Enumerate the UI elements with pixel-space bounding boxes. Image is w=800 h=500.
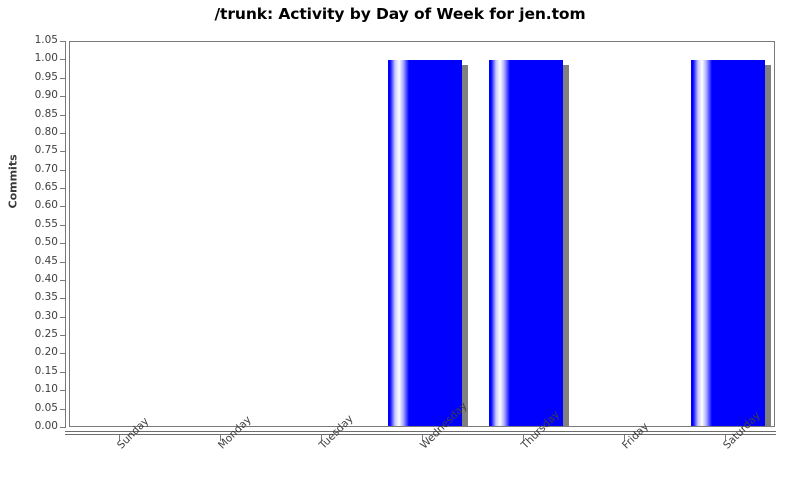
y-tick-label: 0.70 bbox=[0, 163, 58, 175]
bar-saturday[interactable] bbox=[691, 60, 765, 427]
y-tick-mark bbox=[60, 390, 65, 391]
y-tick-label: 0.20 bbox=[0, 346, 58, 358]
y-tick-mark bbox=[60, 133, 65, 134]
y-tick-mark bbox=[60, 243, 65, 244]
y-tick-mark bbox=[60, 409, 65, 410]
y-tick-mark bbox=[60, 280, 65, 281]
y-tick-label: 0.80 bbox=[0, 126, 58, 138]
y-tick-mark bbox=[60, 262, 65, 263]
bar-wednesday[interactable] bbox=[388, 60, 462, 427]
y-tick-label: 0.25 bbox=[0, 328, 58, 340]
y-tick-label: 0.40 bbox=[0, 273, 58, 285]
bar-shadow bbox=[462, 65, 468, 427]
y-tick-label: 0.15 bbox=[0, 365, 58, 377]
y-tick-label: 0.60 bbox=[0, 199, 58, 211]
y-tick-label: 0.95 bbox=[0, 71, 58, 83]
y-tick-mark bbox=[60, 78, 65, 79]
x-axis-spine-outer bbox=[65, 434, 776, 435]
y-tick-label: 1.05 bbox=[0, 34, 58, 46]
y-tick-mark bbox=[60, 298, 65, 299]
y-tick-label: 0.50 bbox=[0, 236, 58, 248]
y-tick-label: 1.00 bbox=[0, 52, 58, 64]
y-tick-mark bbox=[60, 335, 65, 336]
y-tick-label: 0.30 bbox=[0, 310, 58, 322]
y-tick-mark bbox=[60, 225, 65, 226]
y-tick-mark bbox=[60, 151, 65, 152]
y-tick-mark bbox=[60, 96, 65, 97]
y-tick-mark bbox=[60, 115, 65, 116]
bar-thursday[interactable] bbox=[489, 60, 563, 427]
y-tick-mark bbox=[60, 317, 65, 318]
chart-title: /trunk: Activity by Day of Week for jen.… bbox=[0, 5, 800, 23]
y-tick-mark bbox=[60, 427, 65, 428]
bar-shadow bbox=[765, 65, 771, 427]
plot-area bbox=[69, 41, 775, 427]
y-tick-label: 0.55 bbox=[0, 218, 58, 230]
y-tick-mark bbox=[60, 41, 65, 42]
y-tick-mark bbox=[60, 353, 65, 354]
y-tick-label: 0.00 bbox=[0, 420, 58, 432]
x-axis-spine bbox=[65, 431, 776, 432]
y-axis-spine bbox=[65, 41, 66, 428]
y-tick-label: 0.85 bbox=[0, 108, 58, 120]
y-tick-mark bbox=[60, 188, 65, 189]
y-tick-mark bbox=[60, 372, 65, 373]
y-tick-label: 0.35 bbox=[0, 291, 58, 303]
y-tick-label: 0.45 bbox=[0, 255, 58, 267]
y-tick-label: 0.05 bbox=[0, 402, 58, 414]
y-tick-label: 0.75 bbox=[0, 144, 58, 156]
y-tick-mark bbox=[60, 206, 65, 207]
y-tick-label: 0.90 bbox=[0, 89, 58, 101]
y-tick-label: 0.10 bbox=[0, 383, 58, 395]
y-tick-mark bbox=[60, 59, 65, 60]
bar-shadow bbox=[563, 65, 569, 427]
chart-container: /trunk: Activity by Day of Week for jen.… bbox=[0, 0, 800, 500]
y-tick-mark bbox=[60, 170, 65, 171]
y-tick-label: 0.65 bbox=[0, 181, 58, 193]
